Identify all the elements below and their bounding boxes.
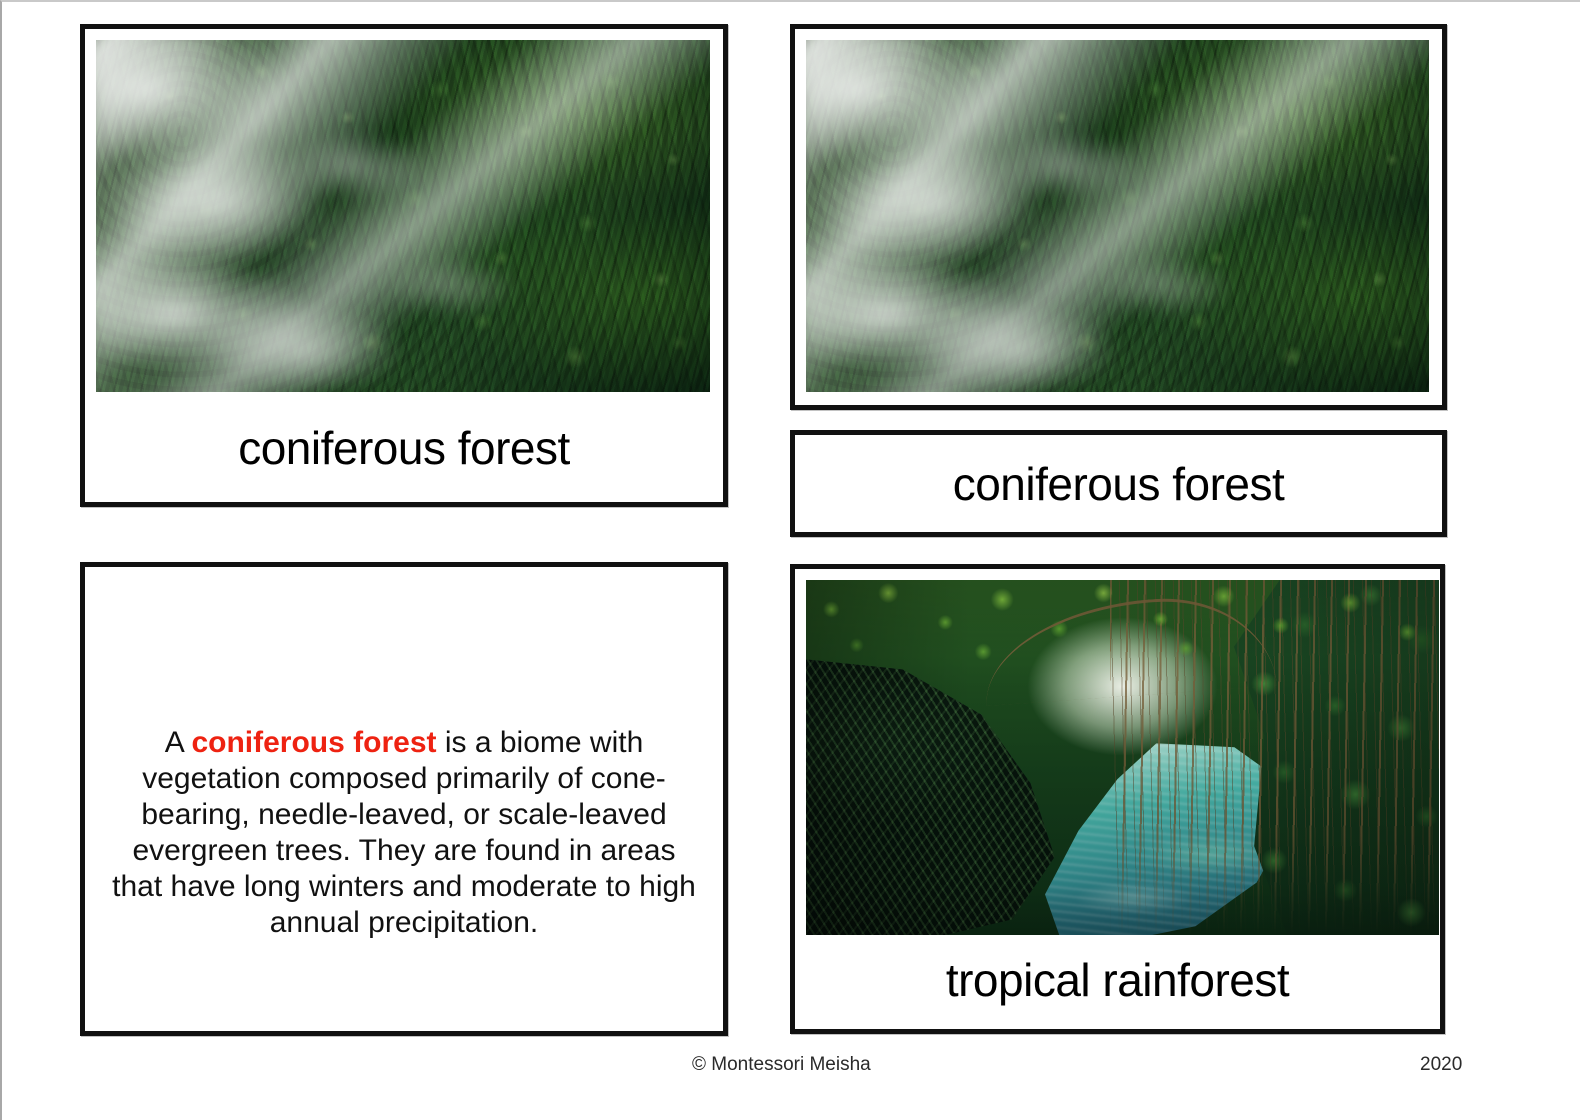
tropical-rainforest-photo <box>806 580 1439 935</box>
coniferous-forest-photo <box>806 40 1429 392</box>
label-only-card[interactable]: coniferous forest <box>790 430 1447 537</box>
footer-copyright: © Montessori Meisha <box>692 1054 871 1076</box>
footer-year: 2020 <box>1420 1054 1462 1076</box>
definition-term: coniferous forest <box>191 726 436 759</box>
definition-card[interactable]: A coniferous forest is a biome with vege… <box>80 562 728 1036</box>
picture-and-label-card[interactable]: coniferous forest <box>80 24 728 507</box>
conifer-canopy-layer <box>806 40 1429 392</box>
definition-lead: A <box>165 726 192 759</box>
definition-text: A coniferous forest is a biome with vege… <box>107 725 701 941</box>
card-label-coniferous-forest: coniferous forest <box>795 457 1442 511</box>
coniferous-forest-photo <box>96 40 710 392</box>
card-label-tropical-rainforest: tropical rainforest <box>795 953 1440 1007</box>
picture-only-card[interactable] <box>790 24 1447 410</box>
conifer-canopy-layer <box>96 40 710 392</box>
tropical-rainforest-card[interactable]: tropical rainforest <box>790 564 1445 1034</box>
card-label-coniferous-forest: coniferous forest <box>85 421 723 475</box>
worksheet-page: coniferous forest coniferous forest A co… <box>0 0 1580 1120</box>
